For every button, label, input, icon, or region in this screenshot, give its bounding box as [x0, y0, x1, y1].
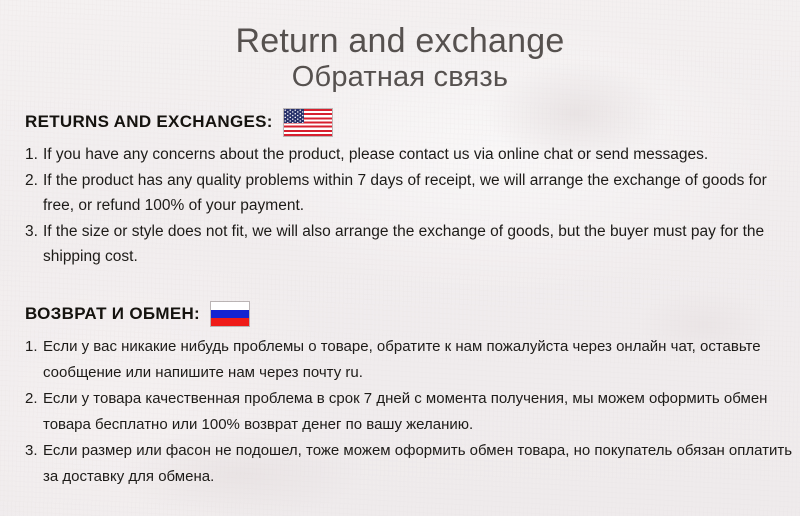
list-item-text: Если у товара качественная проблема в ср… — [43, 390, 767, 433]
list-item: 2. Если у товара качественная проблема в… — [25, 386, 800, 438]
page-title-russian: Обратная связь — [0, 60, 800, 94]
list-item: 1. Если у вас никакие нибудь проблемы о … — [25, 334, 800, 386]
list-item-marker: 3. — [25, 438, 38, 464]
english-section-heading: RETURNS AND EXCHANGES: — [25, 108, 800, 136]
english-returns-list: 1. If you have any concerns about the pr… — [25, 142, 800, 270]
russian-section-heading: ВОЗВРАТ И ОБМЕН: — [25, 300, 800, 328]
page-title-block: Return and exchange Обратная связь — [0, 0, 800, 94]
list-item-marker: 1. — [25, 142, 38, 168]
list-item: 1. If you have any concerns about the pr… — [25, 142, 800, 168]
english-section-heading-label: RETURNS AND EXCHANGES: — [25, 112, 273, 132]
english-section: RETURNS AND EXCHANGES: 1. If you have an… — [0, 108, 800, 270]
list-item-text: If you have any concerns about the produ… — [43, 146, 708, 163]
list-item-marker: 2. — [25, 386, 38, 412]
russian-returns-list: 1. Если у вас никакие нибудь проблемы о … — [25, 334, 800, 490]
list-item: 3. Если размер или фасон не подошел, тож… — [25, 438, 800, 490]
list-item-marker: 3. — [25, 219, 38, 245]
return-and-exchange-page: Return and exchange Обратная связь RETUR… — [0, 0, 800, 516]
list-item-text: Если у вас никакие нибудь проблемы о тов… — [43, 338, 761, 381]
list-item-text: If the size or style does not fit, we wi… — [43, 223, 764, 266]
list-item-marker: 1. — [25, 334, 38, 360]
us-flag-icon — [284, 109, 332, 136]
page-title-english: Return and exchange — [0, 22, 800, 60]
russian-section-heading-label: ВОЗВРАТ И ОБМЕН: — [25, 304, 200, 324]
list-item: 2. If the product has any quality proble… — [25, 168, 800, 219]
list-item-marker: 2. — [25, 168, 38, 194]
list-item: 3. If the size or style does not fit, we… — [25, 219, 800, 270]
list-item-text: If the product has any quality problems … — [43, 172, 767, 215]
russian-section: ВОЗВРАТ И ОБМЕН: 1. Если у вас никакие н… — [0, 300, 800, 490]
list-item-text: Если размер или фасон не подошел, тоже м… — [43, 442, 792, 485]
us-flag-stars — [284, 109, 304, 124]
ru-flag-icon — [211, 302, 249, 326]
